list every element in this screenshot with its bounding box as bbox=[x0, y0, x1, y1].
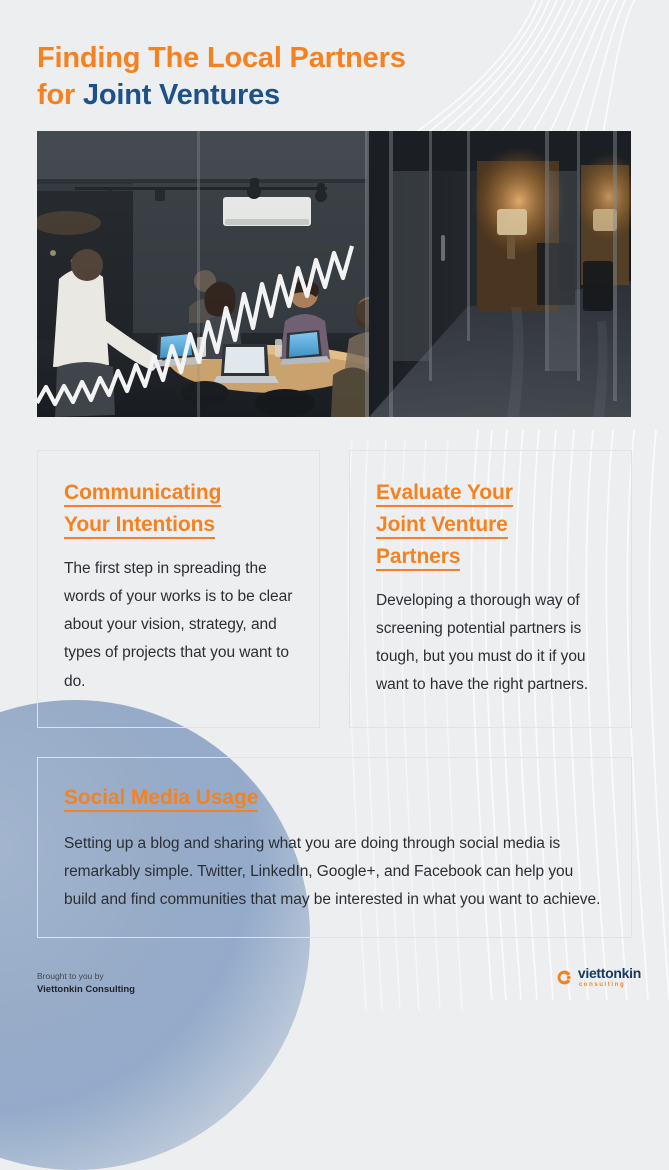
brand-name: viettonkin bbox=[578, 966, 641, 980]
card-social-heading: Social Media Usage bbox=[64, 782, 605, 814]
footer-credit-lead: Brought to you by bbox=[37, 970, 135, 983]
card-evaluate-heading: Evaluate Your Joint Venture Partners bbox=[376, 477, 607, 573]
footer: Brought to you by Viettonkin Consulting … bbox=[0, 960, 669, 1024]
page-title: Finding The Local Partners for Joint Ven… bbox=[37, 40, 597, 114]
brand-logo: viettonkin consulting bbox=[556, 966, 641, 988]
card-evaluate-your-joint-venture-partners: Evaluate Your Joint Venture Partners Dev… bbox=[349, 450, 632, 728]
card-evaluate-heading-line3: Partners bbox=[376, 545, 460, 571]
footer-credit-name: Viettonkin Consulting bbox=[37, 983, 135, 998]
hero-photo-illustration bbox=[37, 131, 631, 417]
card-communicating-your-intentions: Communicating Your Intentions The first … bbox=[37, 450, 320, 728]
card-communicating-heading-line2: Your Intentions bbox=[64, 513, 215, 539]
card-communicating-body: The first step in spreading the words of… bbox=[64, 555, 295, 696]
brand-wordmark: viettonkin consulting bbox=[578, 966, 641, 988]
page-title-line1: Finding The Local Partners bbox=[37, 42, 406, 74]
card-social-heading-line1: Social Media Usage bbox=[64, 786, 258, 812]
footer-credit: Brought to you by Viettonkin Consulting bbox=[37, 970, 135, 998]
brand-subtitle: consulting bbox=[579, 982, 641, 988]
card-communicating-heading-line1: Communicating bbox=[64, 481, 221, 507]
card-evaluate-body: Developing a thorough way of screening p… bbox=[376, 587, 607, 700]
card-communicating-heading: Communicating Your Intentions bbox=[64, 477, 295, 541]
card-social-media-usage: Social Media Usage Setting up a blog and… bbox=[37, 757, 632, 938]
card-social-body: Setting up a blog and sharing what you a… bbox=[64, 830, 605, 915]
page-title-line2-prefix: for bbox=[37, 79, 83, 111]
hero-photo bbox=[37, 131, 631, 417]
page-title-line2-highlight: Joint Ventures bbox=[83, 79, 280, 111]
c-circle-logo-icon bbox=[556, 969, 573, 986]
card-evaluate-heading-line2: Joint Venture bbox=[376, 513, 508, 539]
card-evaluate-heading-line1: Evaluate Your bbox=[376, 481, 513, 507]
